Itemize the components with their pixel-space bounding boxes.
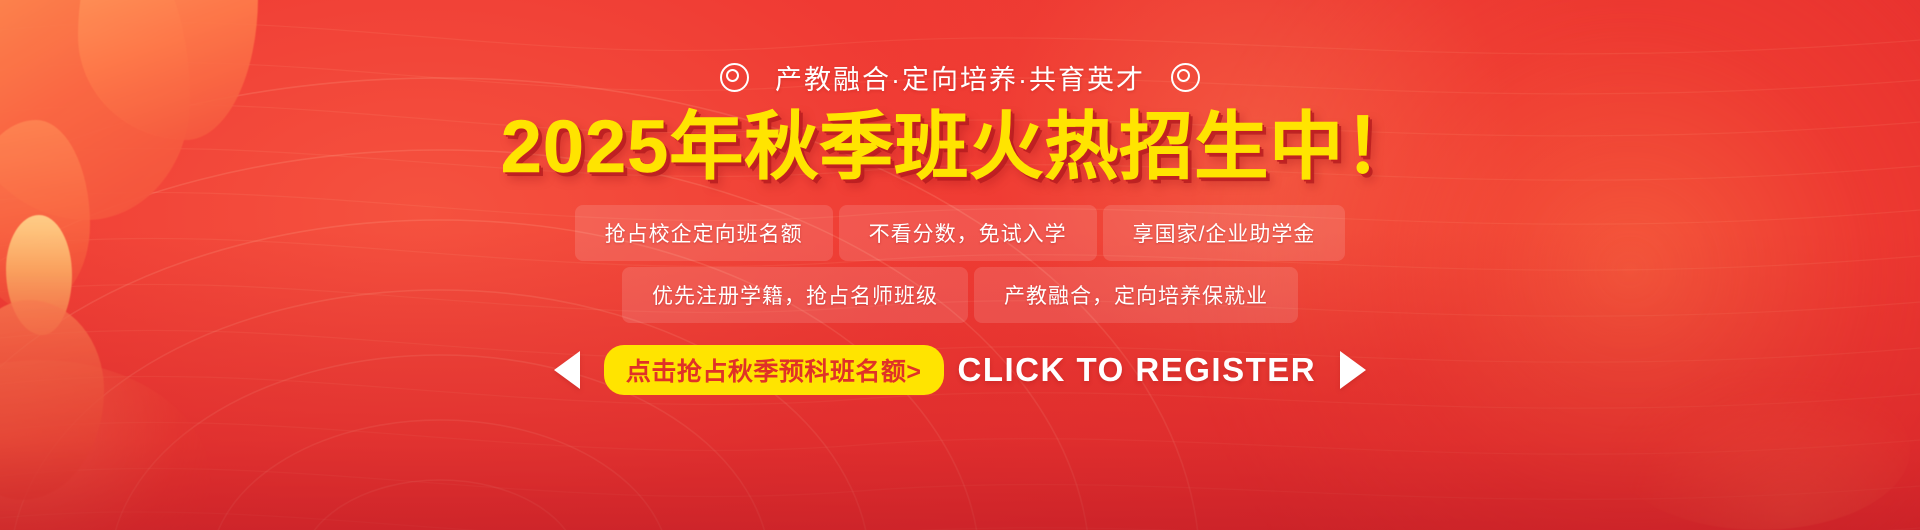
feature-pill: 享国家/企业助学金 — [1103, 205, 1346, 261]
feature-pill: 优先注册学籍，抢占名师班级 — [622, 267, 968, 323]
page-title: 2025年秋季班火热招生中！ — [501, 107, 1420, 187]
tagline: 产教融合·定向培养·共育英才 — [720, 58, 1200, 97]
cta-pill-label[interactable]: 点击抢占秋季预科班名额> — [604, 345, 944, 395]
banner-content: 产教融合·定向培养·共育英才 2025年秋季班火热招生中！ 抢占校企定向班名额 … — [0, 0, 1920, 530]
cta-row: 点击抢占秋季预科班名额> CLICK TO REGISTER — [554, 345, 1366, 395]
feature-pill: 产教融合，定向培养保就业 — [974, 267, 1298, 323]
double-circle-icon-right — [1171, 63, 1200, 92]
double-circle-icon-left — [720, 63, 749, 92]
register-button[interactable]: 点击抢占秋季预科班名额> CLICK TO REGISTER — [604, 345, 1316, 395]
triangle-right-icon — [1340, 351, 1366, 389]
cta-english-label[interactable]: CLICK TO REGISTER — [958, 351, 1317, 389]
feature-pill: 抢占校企定向班名额 — [575, 205, 833, 261]
feature-pill-row: 抢占校企定向班名额 不看分数，免试入学 享国家/企业助学金 — [575, 205, 1346, 261]
tagline-text: 产教融合·定向培养·共育英才 — [775, 58, 1145, 97]
feature-pill-row: 优先注册学籍，抢占名师班级 产教融合，定向培养保就业 — [622, 267, 1298, 323]
triangle-left-icon — [554, 351, 580, 389]
promo-banner: 产教融合·定向培养·共育英才 2025年秋季班火热招生中！ 抢占校企定向班名额 … — [0, 0, 1920, 530]
feature-pill: 不看分数，免试入学 — [839, 205, 1097, 261]
feature-pill-group: 抢占校企定向班名额 不看分数，免试入学 享国家/企业助学金 优先注册学籍，抢占名… — [575, 205, 1346, 323]
